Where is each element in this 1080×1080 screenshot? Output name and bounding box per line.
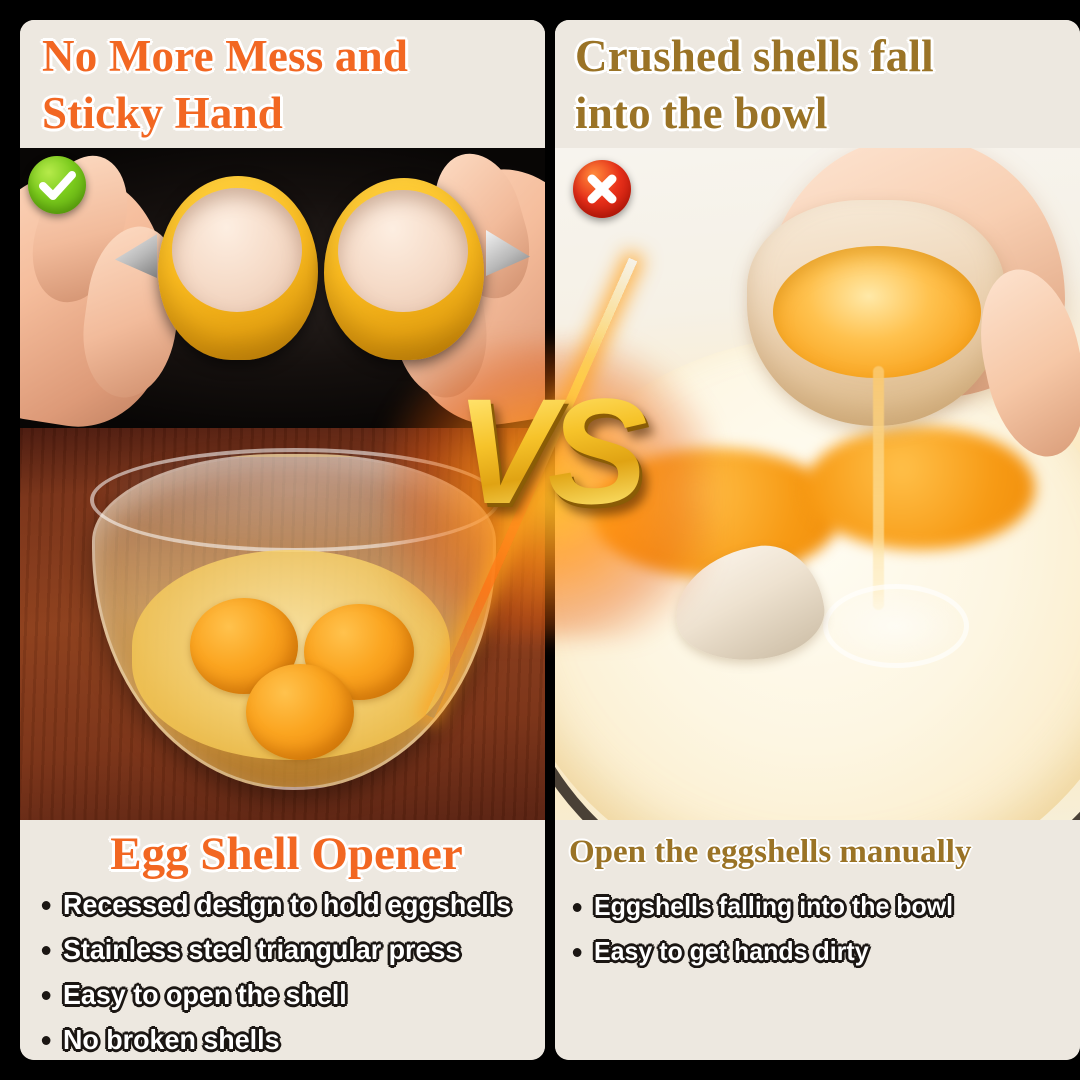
hand-cracking-egg-over-bowl-photo xyxy=(555,148,1080,820)
list-item: Easy to get hands dirty xyxy=(569,929,1050,974)
left-headline-line-1: No More Mess and xyxy=(42,28,531,85)
egg-shell-opener-in-hands-photo xyxy=(20,148,545,428)
comparison-infographic: No More Mess and Sticky Hand xyxy=(0,0,1080,1080)
yolk-in-shell xyxy=(773,246,981,378)
left-feature-list: Recessed design to hold eggshells Stainl… xyxy=(38,882,535,1060)
list-item: Easy to open the shell xyxy=(38,972,515,1017)
glass-bowl-with-yolks-photo xyxy=(20,428,545,820)
right-headline-line-2: into the bowl xyxy=(575,85,1066,142)
list-item: Stainless steel triangular press xyxy=(38,927,515,972)
check-circle-icon xyxy=(28,156,86,214)
left-headline: No More Mess and Sticky Hand xyxy=(20,20,545,148)
left-headline-line-2: Sticky Hand xyxy=(42,85,531,142)
right-drawback-list: Eggshells falling into the bowl Easy to … xyxy=(569,884,1070,974)
list-item: No broken shells xyxy=(38,1017,515,1060)
left-caption-title: Egg Shell Opener xyxy=(38,826,535,882)
right-headline: Crushed shells fall into the bowl xyxy=(555,20,1080,148)
left-caption-block: Egg Shell Opener Recessed design to hold… xyxy=(20,820,545,1060)
right-comparison-panel: Crushed shells fall into the bowl Open t… xyxy=(555,20,1080,1060)
panel-divider xyxy=(545,0,555,1080)
cross-circle-icon xyxy=(573,160,631,218)
glass-bowl-rim xyxy=(90,448,500,552)
spread-yolk-2 xyxy=(805,426,1035,550)
right-caption-title: Open the eggshells manually xyxy=(569,826,1070,878)
egg-white-drip xyxy=(873,366,884,610)
spread-yolk-1 xyxy=(591,448,841,578)
yolk-3 xyxy=(246,664,354,760)
opener-cup-left-inner xyxy=(172,188,302,312)
list-item: Eggshells falling into the bowl xyxy=(569,884,1050,929)
list-item: Recessed design to hold eggshells xyxy=(38,882,515,927)
splash-ripple xyxy=(823,584,969,668)
right-caption-block: Open the eggshells manually Eggshells fa… xyxy=(555,820,1080,1060)
right-headline-line-1: Crushed shells fall xyxy=(575,28,1066,85)
left-comparison-panel: No More Mess and Sticky Hand xyxy=(20,20,545,1060)
opener-cup-right-inner xyxy=(338,190,468,312)
